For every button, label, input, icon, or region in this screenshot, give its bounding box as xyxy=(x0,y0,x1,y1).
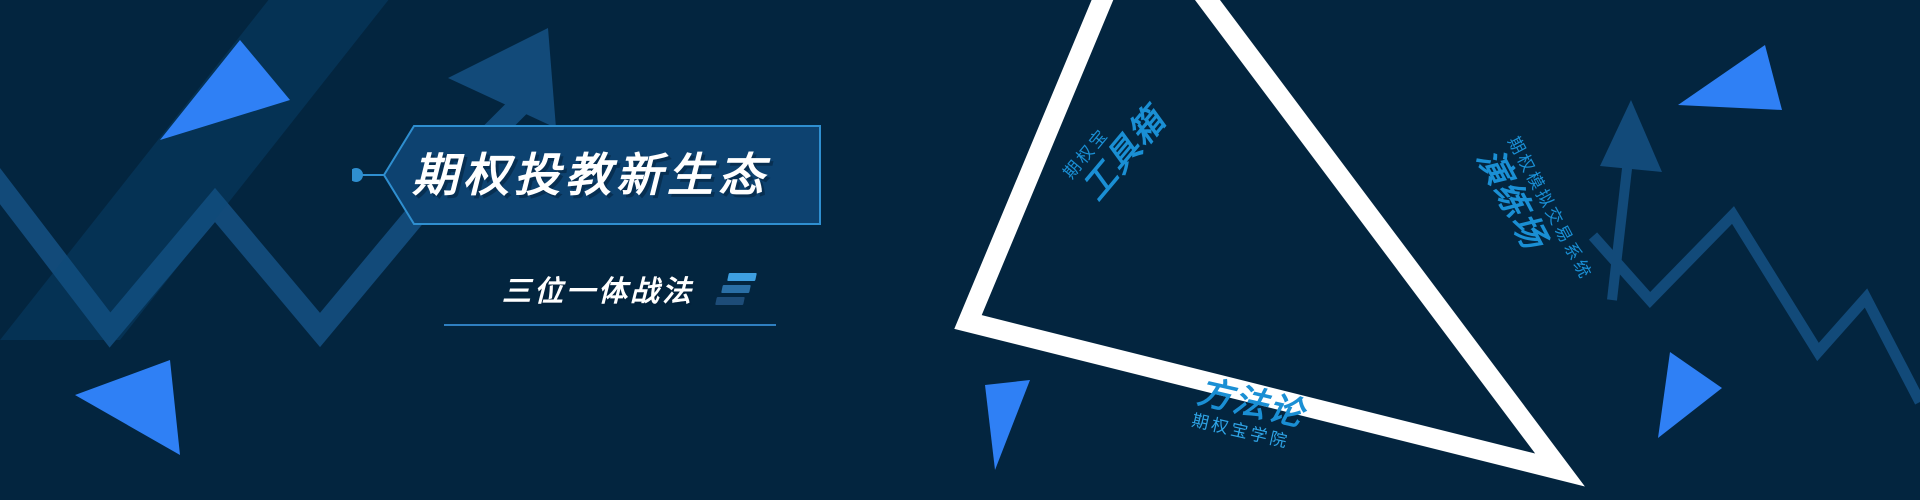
up-arrow-right xyxy=(1600,100,1662,300)
zigzag-line-right xyxy=(1593,215,1920,402)
triangle-bottom-left xyxy=(75,360,180,455)
title-group: 期权投教新生态 三位一体战法 xyxy=(352,120,912,360)
bar-2 xyxy=(721,285,751,293)
bar-3 xyxy=(715,297,745,305)
subtitle-text: 三位一体战法 xyxy=(502,268,694,310)
triangle-bottom-right xyxy=(1658,352,1722,438)
triangle-sliver-center xyxy=(985,380,1030,470)
background-decorations xyxy=(0,0,1920,500)
three-bars-icon xyxy=(716,271,756,307)
title-connector-dot xyxy=(352,168,363,182)
bar-1 xyxy=(727,273,757,281)
promo-banner: 期权投教新生态 三位一体战法 期权宝 工具箱 期权模拟交易系统 演练场 方法论 … xyxy=(0,0,1920,500)
subtitle-divider xyxy=(444,324,776,326)
triangle-top-right xyxy=(1678,45,1782,110)
page-title: 期权投教新生态 xyxy=(412,142,792,208)
subtitle-row: 三位一体战法 xyxy=(502,260,922,318)
